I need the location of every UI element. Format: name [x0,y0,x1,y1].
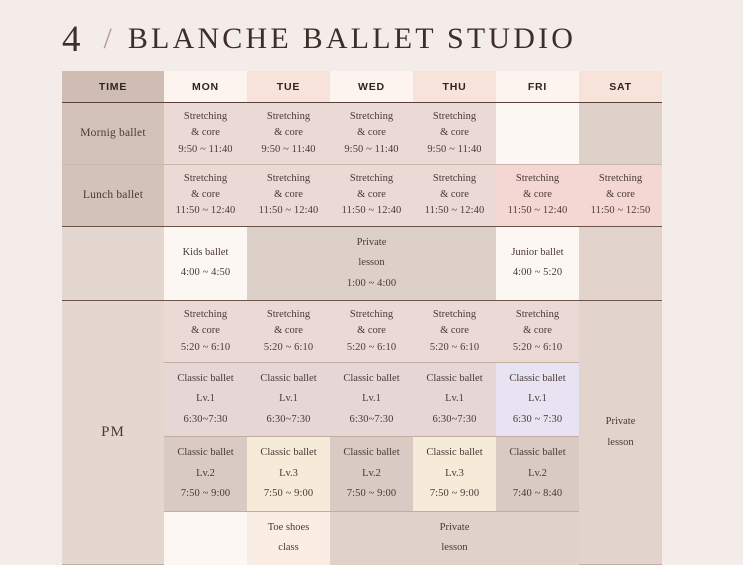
cell-line-1: Stretching [166,171,245,187]
cell-line-1: Private [581,412,660,432]
cell-line-2: Lv.1 [498,389,577,409]
cell-pm-stretch-thu[interactable]: Stretching & core 5:20 ~ 6:10 [413,301,496,363]
cell-line-3: 4:00 ~ 4:50 [166,263,245,283]
cell-line-3: 5:20 ~ 6:10 [498,340,577,356]
cell-line-2: Lv.1 [249,389,328,409]
cell-toe-shoes-class-tue[interactable]: Toe shoes class [247,511,330,564]
cell-line-3: 9:50 ~ 11:40 [332,142,411,158]
cell-line-1: Stretching [332,109,411,125]
column-header-mon: MON [164,71,247,103]
cell-line-3: 5:20 ~ 6:10 [415,340,494,356]
page-title: 4 / BLANCHE BALLET STUDIO [62,14,662,64]
cell-line-1: Stretching [415,109,494,125]
cell-lunch-fri[interactable]: Stretching & core 11:50 ~ 12:40 [496,164,579,226]
cell-morning-fri[interactable] [496,103,579,165]
column-header-sat: SAT [579,71,662,103]
cell-classic-lv2-wed[interactable]: Classic ballet Lv.2 7:50 ~ 9:00 [330,437,413,511]
table-row-lunch-ballet: Lunch ballet Stretching & core 11:50 ~ 1… [62,164,662,226]
cell-line-2: & core [415,323,494,339]
time-label-lunch: Lunch ballet [62,164,164,226]
cell-line-2: Lv.3 [249,464,328,484]
cell-line-3: 9:50 ~ 11:40 [415,142,494,158]
cell-lunch-thu[interactable]: Stretching & core 11:50 ~ 12:40 [413,164,496,226]
cell-line-3: 5:20 ~ 6:10 [166,340,245,356]
cell-line-2: lesson [249,253,494,273]
cell-line-2: Lv.2 [498,464,577,484]
cell-morning-mon[interactable]: Stretching & core 9:50 ~ 11:40 [164,103,247,165]
cell-line-1: Stretching [332,307,411,323]
cell-classic-lv1-tue[interactable]: Classic ballet Lv.1 6:30~7:30 [247,362,330,436]
cell-line-1: Toe shoes [249,518,328,538]
cell-line-1: Stretching [166,109,245,125]
cell-line-3: 7:50 ~ 9:00 [415,484,494,504]
cell-classic-lv3-tue[interactable]: Classic ballet Lv.3 7:50 ~ 9:00 [247,437,330,511]
cell-line-1: Private [249,233,494,253]
header-row: TIME MON TUE WED THU FRI SAT [62,71,662,103]
cell-classic-lv2-fri[interactable]: Classic ballet Lv.2 7:40 ~ 8:40 [496,437,579,511]
cell-morning-wed[interactable]: Stretching & core 9:50 ~ 11:40 [330,103,413,165]
cell-line-1: Stretching [249,171,328,187]
cell-line-2: & core [581,187,660,203]
cell-line-2: Lv.1 [332,389,411,409]
cell-line-2: & core [332,125,411,141]
cell-line-1: Classic ballet [166,369,245,389]
cell-lunch-mon[interactable]: Stretching & core 11:50 ~ 12:40 [164,164,247,226]
cell-line-1: Stretching [249,307,328,323]
cell-line-2: & core [332,187,411,203]
cell-lunch-tue[interactable]: Stretching & core 11:50 ~ 12:40 [247,164,330,226]
cell-line-3: 7:50 ~ 9:00 [166,484,245,504]
studio-name: BLANCHE BALLET STUDIO [128,22,576,56]
schedule-table: TIME MON TUE WED THU FRI SAT Mornig ball… [62,71,662,565]
cell-morning-tue[interactable]: Stretching & core 9:50 ~ 11:40 [247,103,330,165]
cell-line-2: & core [249,323,328,339]
cell-line-2: & core [332,323,411,339]
cell-lunch-sat[interactable]: Stretching & core 11:50 ~ 12:50 [579,164,662,226]
cell-pm-stretch-mon[interactable]: Stretching & core 5:20 ~ 6:10 [164,301,247,363]
cell-line-3: 11:50 ~ 12:40 [166,203,245,219]
cell-line-3: 4:00 ~ 5:20 [498,263,577,283]
table-row-pm-stretching: PM Stretching & core 5:20 ~ 6:10 Stretch… [62,301,662,363]
cell-line-3: 7:50 ~ 9:00 [332,484,411,504]
cell-line-1: Classic ballet [498,369,577,389]
cell-line-3: 7:50 ~ 9:00 [249,484,328,504]
cell-line-3: 6:30~7:30 [166,410,245,430]
cell-line-2: & core [498,187,577,203]
cell-line-2: & core [415,187,494,203]
cell-line-1: Junior ballet [498,243,577,263]
table-row-afternoon: Kids ballet 4:00 ~ 4:50 Private lesson 1… [62,226,662,300]
column-header-time: TIME [62,71,164,103]
column-header-tue: TUE [247,71,330,103]
cell-line-2: Lv.2 [166,464,245,484]
cell-line-2: Lv.1 [166,389,245,409]
column-header-fri: FRI [496,71,579,103]
cell-line-1: Stretching [415,307,494,323]
cell-line-1: Classic ballet [249,369,328,389]
title-separator: / [104,22,112,56]
cell-line-2: Lv.1 [415,389,494,409]
cell-pm-stretch-tue[interactable]: Stretching & core 5:20 ~ 6:10 [247,301,330,363]
cell-line-1: Stretching [581,171,660,187]
cell-pm-stretch-wed[interactable]: Stretching & core 5:20 ~ 6:10 [330,301,413,363]
cell-line-2: Lv.2 [332,464,411,484]
cell-line-2: & core [249,125,328,141]
cell-line-3: 6:30~7:30 [415,410,494,430]
cell-afternoon-fri[interactable]: Junior ballet 4:00 ~ 5:20 [496,226,579,300]
cell-classic-lv1-thu[interactable]: Classic ballet Lv.1 6:30~7:30 [413,362,496,436]
column-header-wed: WED [330,71,413,103]
cell-classic-lv2-mon[interactable]: Classic ballet Lv.2 7:50 ~ 9:00 [164,437,247,511]
cell-line-1: Classic ballet [415,443,494,463]
cell-line-3: 9:50 ~ 11:40 [166,142,245,158]
time-label-afternoon [62,226,164,300]
cell-afternoon-mon[interactable]: Kids ballet 4:00 ~ 4:50 [164,226,247,300]
cell-pm-stretch-fri[interactable]: Stretching & core 5:20 ~ 6:10 [496,301,579,363]
page-number: 4 [62,18,82,61]
cell-classic-lv3-thu[interactable]: Classic ballet Lv.3 7:50 ~ 9:00 [413,437,496,511]
table-row-morning-ballet: Mornig ballet Stretching & core 9:50 ~ 1… [62,103,662,165]
cell-line-1: Classic ballet [166,443,245,463]
cell-classic-lv1-mon[interactable]: Classic ballet Lv.1 6:30~7:30 [164,362,247,436]
cell-line-3: 5:20 ~ 6:10 [332,340,411,356]
cell-line-2: & core [166,187,245,203]
cell-afternoon-sat[interactable] [579,226,662,300]
cell-toe-mon[interactable] [164,511,247,564]
cell-line-3: 11:50 ~ 12:40 [498,203,577,219]
cell-line-3: 11:50 ~ 12:50 [581,203,660,219]
cell-line-2: class [249,538,328,558]
cell-line-1: Stretching [332,171,411,187]
cell-line-1: Classic ballet [332,369,411,389]
cell-classic-lv1-wed[interactable]: Classic ballet Lv.1 6:30~7:30 [330,362,413,436]
cell-line-3: 9:50 ~ 11:40 [249,142,328,158]
cell-line-1: Classic ballet [332,443,411,463]
cell-line-2: & core [415,125,494,141]
column-header-thu: THU [413,71,496,103]
cell-line-1: Kids ballet [166,243,245,263]
time-label-morning: Mornig ballet [62,103,164,165]
cell-line-1: Classic ballet [249,443,328,463]
cell-line-2: Lv.3 [415,464,494,484]
cell-line-1: Stretching [249,109,328,125]
cell-line-3: 1:00 ~ 4:00 [249,274,494,294]
cell-line-1: Stretching [415,171,494,187]
cell-line-1: Stretching [498,307,577,323]
cell-line-3: 6:30 ~ 7:30 [498,410,577,430]
cell-line-2: & core [166,125,245,141]
cell-classic-lv1-fri[interactable]: Classic ballet Lv.1 6:30 ~ 7:30 [496,362,579,436]
cell-line-3: 6:30~7:30 [249,410,328,430]
cell-line-3: 6:30~7:30 [332,410,411,430]
cell-line-3: 11:50 ~ 12:40 [249,203,328,219]
table-header: TIME MON TUE WED THU FRI SAT [62,71,662,103]
cell-line-2: & core [498,323,577,339]
cell-evening-private-lesson[interactable]: Private lesson [330,511,579,564]
cell-line-1: Private [332,518,577,538]
cell-afternoon-private-lesson[interactable]: Private lesson 1:00 ~ 4:00 [247,226,496,300]
cell-line-3: 5:20 ~ 6:10 [249,340,328,356]
cell-line-2: & core [166,323,245,339]
cell-line-1: Classic ballet [498,443,577,463]
cell-morning-sat[interactable] [579,103,662,165]
cell-line-3: 11:50 ~ 12:40 [332,203,411,219]
cell-line-2: lesson [332,538,577,558]
cell-line-1: Stretching [166,307,245,323]
cell-line-3: 7:40 ~ 8:40 [498,484,577,504]
cell-line-3: 11:50 ~ 12:40 [415,203,494,219]
cell-lunch-wed[interactable]: Stretching & core 11:50 ~ 12:40 [330,164,413,226]
cell-morning-thu[interactable]: Stretching & core 9:50 ~ 11:40 [413,103,496,165]
cell-line-1: Classic ballet [415,369,494,389]
cell-line-1: Stretching [498,171,577,187]
cell-line-2: & core [249,187,328,203]
cell-line-2: lesson [581,433,660,453]
